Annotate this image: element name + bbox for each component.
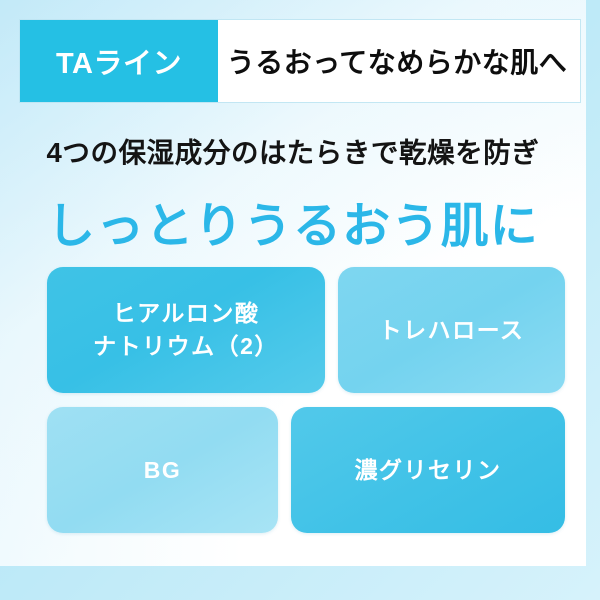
header-banner: TAライン うるおってなめらかな肌へ (20, 20, 580, 102)
ingredient-card-hyaluronic-acid: ヒアルロン酸 ナトリウム（2） (47, 267, 325, 393)
ingredient-card-trehalose: トレハロース (338, 267, 565, 393)
ingredient-card-bg: BG (47, 407, 278, 533)
header-title-box: うるおってなめらかな肌へ (218, 20, 580, 102)
main-heading: しっとりうるおう肌に (0, 186, 586, 256)
poster-content: TAライン うるおってなめらかな肌へ 4つの保湿成分のはたらきで乾燥を防ぎ しっ… (0, 0, 586, 566)
ingredient-card-label: BG (144, 454, 182, 487)
poster-canvas: TAライン うるおってなめらかな肌へ 4つの保湿成分のはたらきで乾燥を防ぎ しっ… (0, 0, 600, 600)
sub-heading: 4つの保湿成分のはたらきで乾燥を防ぎ (0, 130, 586, 170)
ingredient-card-row-2: BG 濃グリセリン (47, 407, 565, 533)
ingredient-label-line-1: トレハロース (379, 314, 525, 347)
header-title-text: うるおってなめらかな肌へ (227, 41, 568, 81)
ingredient-card-label: トレハロース (379, 314, 525, 347)
ingredient-label-line-1: BG (144, 454, 182, 487)
ingredient-card-label: ヒアルロン酸 ナトリウム（2） (93, 297, 279, 362)
ingredient-label-line-1: ヒアルロン酸 (93, 297, 279, 330)
ingredient-card-concentrated-glycerin: 濃グリセリン (291, 407, 565, 533)
ingredient-card-grid: ヒアルロン酸 ナトリウム（2） トレハロース BG (47, 267, 565, 547)
header-tag-badge: TAライン (20, 20, 218, 102)
ingredient-card-label: 濃グリセリン (355, 454, 502, 487)
ingredient-label-line-1: 濃グリセリン (355, 454, 502, 487)
header-tag-label: TAライン (56, 40, 182, 82)
ingredient-card-row-1: ヒアルロン酸 ナトリウム（2） トレハロース (47, 267, 565, 393)
ingredient-label-line-2: ナトリウム（2） (93, 330, 279, 363)
